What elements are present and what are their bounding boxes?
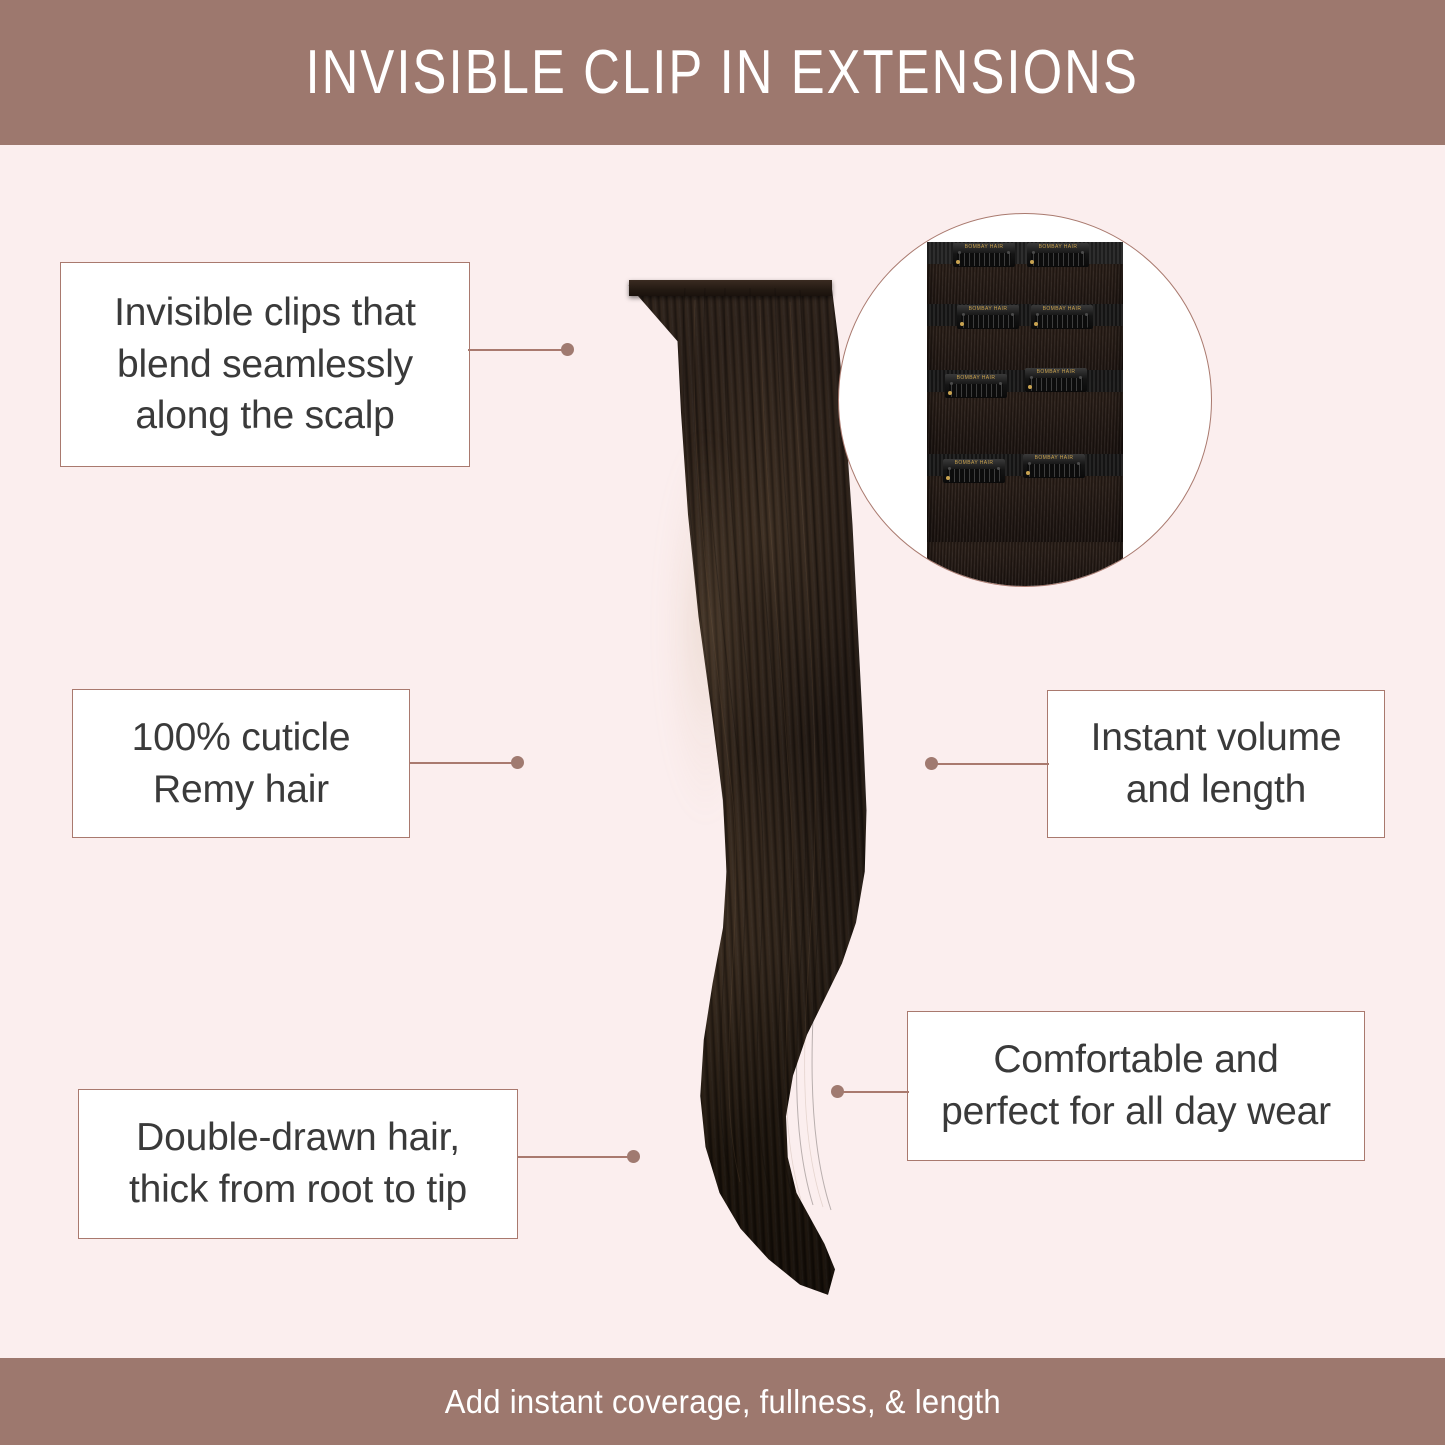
clip-brand-label: BOMBAY HAIR — [943, 460, 1005, 466]
infographic-canvas: INVISIBLE CLIP IN EXTENSIONS — [0, 0, 1445, 1445]
snap-clip: BOMBAY HAIR — [1027, 243, 1089, 267]
clip-rivet — [1085, 313, 1088, 316]
connector-line-remy-hair — [409, 762, 517, 764]
clip-brand-label: BOMBAY HAIR — [953, 244, 1015, 250]
snap-clip: BOMBAY HAIR — [945, 374, 1007, 398]
snap-clip: BOMBAY HAIR — [943, 459, 1005, 483]
clip-rivet — [958, 251, 961, 254]
callout-invisible-clips: Invisible clips that blend seamlessly al… — [60, 262, 470, 467]
clip-rivet — [1077, 462, 1080, 465]
clip-teeth — [949, 384, 1003, 397]
callout-text: Double-drawn hair, thick from root to ti… — [129, 1112, 467, 1216]
clip-rivet — [1081, 251, 1084, 254]
clip-brand-label: BOMBAY HAIR — [1027, 244, 1089, 250]
clip-brand-label: BOMBAY HAIR — [957, 306, 1019, 312]
clip-rivet — [950, 382, 953, 385]
clip-teeth — [1027, 464, 1081, 477]
connector-line-instant-volume — [932, 763, 1049, 765]
connector-line-double-drawn — [517, 1156, 633, 1158]
clip-hole — [948, 391, 952, 395]
footer-bar: Add instant coverage, fullness, & length — [0, 1358, 1445, 1445]
clip-rivet — [1079, 376, 1082, 379]
callout-text: Invisible clips that blend seamlessly al… — [114, 287, 416, 443]
clip-brand-label: BOMBAY HAIR — [945, 375, 1007, 381]
callout-text: Comfortable and perfect for all day wear — [941, 1034, 1331, 1138]
page-title: INVISIBLE CLIP IN EXTENSIONS — [306, 42, 1139, 104]
connector-line-all-day-wear — [838, 1091, 909, 1093]
connector-dot-all-day-wear — [831, 1085, 844, 1098]
callout-text: 100% cuticle Remy hair — [132, 712, 351, 816]
connector-dot-invisible-clips — [561, 343, 574, 356]
clip-teeth — [1035, 315, 1089, 328]
snap-clip: BOMBAY HAIR — [1025, 368, 1087, 392]
clip-hole — [1028, 385, 1032, 389]
callout-remy-hair: 100% cuticle Remy hair — [72, 689, 410, 838]
snap-clip: BOMBAY HAIR — [957, 305, 1019, 329]
hair-top-weft — [629, 280, 832, 296]
clip-teeth — [961, 315, 1015, 328]
clip-rivet — [1007, 251, 1010, 254]
header-bar: INVISIBLE CLIP IN EXTENSIONS — [0, 0, 1445, 145]
clip-brand-label: BOMBAY HAIR — [1023, 455, 1085, 461]
clip-rivet — [1032, 251, 1035, 254]
clip-rivet — [997, 467, 1000, 470]
clip-brand-label: BOMBAY HAIR — [1031, 306, 1093, 312]
clip-rivet — [1030, 376, 1033, 379]
clip-hole — [1026, 471, 1030, 475]
clip-rivet — [1036, 313, 1039, 316]
callout-instant-volume: Instant volume and length — [1047, 690, 1385, 838]
clip-hole — [960, 322, 964, 326]
callout-text: Instant volume and length — [1091, 712, 1342, 816]
clip-teeth — [1031, 253, 1085, 266]
connector-line-invisible-clips — [468, 349, 568, 351]
clip-hole — [956, 260, 960, 264]
clip-teeth — [947, 469, 1001, 482]
clip-hole — [1030, 260, 1034, 264]
clip-rivet — [1011, 313, 1014, 316]
clip-rivet — [1028, 462, 1031, 465]
snap-clip: BOMBAY HAIR — [1023, 454, 1085, 478]
clip-teeth — [957, 253, 1011, 266]
clip-brand-label: BOMBAY HAIR — [1025, 369, 1087, 375]
connector-dot-remy-hair — [511, 756, 524, 769]
clip-weft-detail-inset: BOMBAY HAIR BOMBAY HAIR — [838, 213, 1212, 587]
callout-all-day-wear: Comfortable and perfect for all day wear — [907, 1011, 1365, 1161]
weft-hair-curtain — [927, 542, 1123, 587]
clip-rivet — [999, 382, 1002, 385]
connector-dot-double-drawn — [627, 1150, 640, 1163]
clip-rivet — [948, 467, 951, 470]
connector-dot-instant-volume — [925, 757, 938, 770]
clip-hole — [946, 476, 950, 480]
snap-clip: BOMBAY HAIR — [953, 243, 1015, 267]
weft-stack: BOMBAY HAIR BOMBAY HAIR — [927, 242, 1123, 587]
clip-teeth — [1029, 378, 1083, 391]
footer-tagline: Add instant coverage, fullness, & length — [444, 1385, 1000, 1418]
callout-double-drawn: Double-drawn hair, thick from root to ti… — [78, 1089, 518, 1239]
snap-clip: BOMBAY HAIR — [1031, 305, 1093, 329]
clip-rivet — [962, 313, 965, 316]
clip-hole — [1034, 322, 1038, 326]
